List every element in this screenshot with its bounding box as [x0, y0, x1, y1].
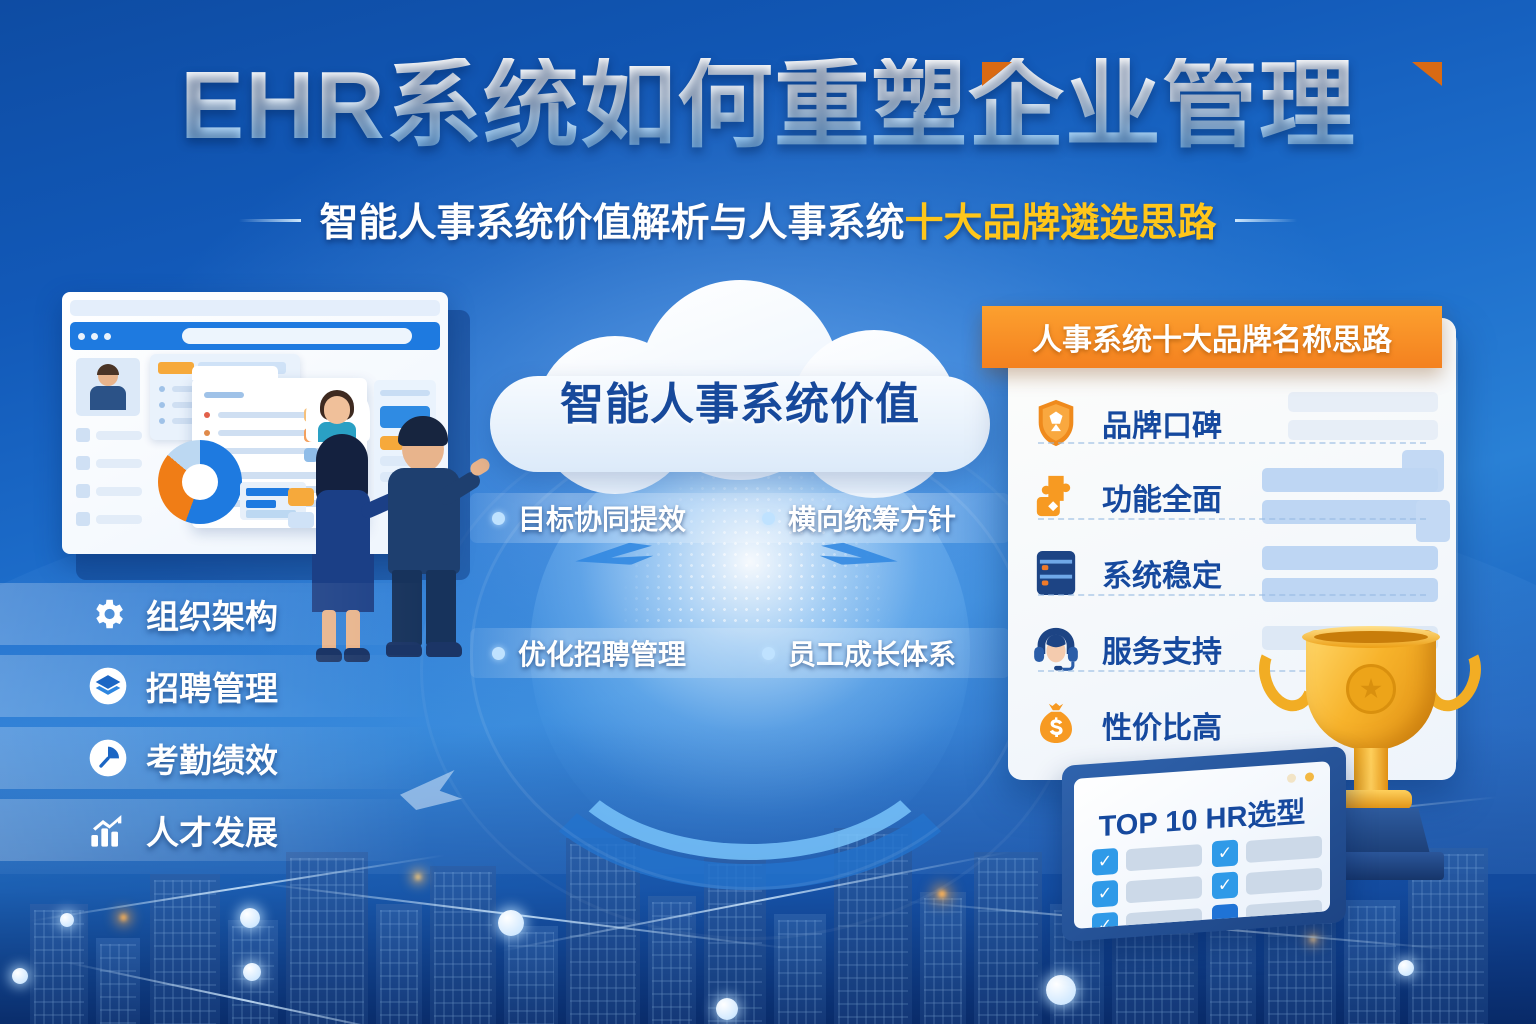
sidebar-item-label: 招聘管理 [146, 662, 278, 710]
center-pill-label: 目标协同提效 [518, 498, 686, 538]
sidebar-item-label: 组织架构 [146, 590, 278, 638]
clock-icon [88, 738, 128, 778]
subtitle-rule-left [239, 219, 301, 222]
criteria-label: 服务支持 [1102, 627, 1222, 671]
criteria-item-0[interactable]: 品牌口碑 [1030, 386, 1434, 460]
gear-icon [88, 594, 128, 634]
infographic-canvas: EHR系统如何重塑企业管理 智能人事系统价值解析与人事系统十大品牌遴选思路 [0, 0, 1536, 1024]
top10-tablet: TOP 10 HR选型 ✓ ✓ ✓ ✓ ✓ [1062, 756, 1346, 932]
subtitle-row: 智能人事系统价值解析与人事系统十大品牌遴选思路 [0, 192, 1536, 248]
checkbox-1[interactable]: ✓ [1212, 839, 1238, 867]
growth-chart-icon [88, 810, 128, 850]
center-pill-1[interactable]: 横向统筹方针 [740, 498, 1010, 538]
bullet-dot-icon [762, 647, 775, 660]
criteria-label: 功能全面 [1102, 475, 1222, 519]
row-divider [1038, 442, 1426, 444]
ribbon-tail-left [982, 62, 1012, 86]
criteria-label: 系统稳定 [1102, 551, 1222, 595]
sidebar-item-3[interactable]: 人才发展 [0, 799, 430, 861]
sidebar-item-2[interactable]: 考勤绩效 [0, 727, 430, 789]
sidebar-item-label: 考勤绩效 [146, 734, 278, 782]
pill-row-bottom: 优化招聘管理 员工成长体系 [470, 628, 1010, 678]
row-divider [1038, 518, 1426, 520]
criteria-label: 性价比高 [1102, 703, 1222, 747]
checkbox-2[interactable]: ✓ [1092, 880, 1118, 908]
page-title: EHR系统如何重塑企业管理 [0, 58, 1536, 154]
cloud-label: 智能人事系统价值 [480, 368, 1000, 432]
bullet-dot-icon [492, 512, 505, 525]
ribbon-banner: 人事系统十大品牌名称思路 [982, 306, 1442, 368]
sidebar-item-1[interactable]: 招聘管理 [0, 655, 430, 717]
center-pill-label: 员工成长体系 [788, 633, 956, 673]
criteria-label: 品牌口碑 [1102, 401, 1222, 445]
row-divider [1038, 594, 1426, 596]
checkbox-0[interactable]: ✓ [1092, 848, 1118, 876]
page-subtitle: 智能人事系统价值解析与人事系统十大品牌遴选思路 [319, 192, 1216, 248]
cloud-badge: 智能人事系统价值 [480, 280, 1000, 480]
center-pill-label: 横向统筹方针 [788, 498, 956, 538]
pill-row-top: 目标协同提效 横向统筹方针 [470, 493, 1010, 543]
center-pill-3[interactable]: 员工成长体系 [740, 633, 1010, 673]
center-pill-label: 优化招聘管理 [518, 633, 686, 673]
criteria-item-1[interactable]: 功能全面 [1030, 460, 1434, 534]
money-bag-icon [1030, 699, 1082, 751]
criteria-item-2[interactable]: 系统稳定 [1030, 536, 1434, 610]
subtitle-prefix: 智能人事系统价值解析与人事系统 [319, 202, 904, 245]
subtitle-rule-right [1235, 219, 1297, 222]
subtitle-highlight: 十大品牌遴选思路 [905, 202, 1217, 245]
sidebar-item-0[interactable]: 组织架构 [0, 583, 430, 645]
layers-icon [88, 666, 128, 706]
center-pill-0[interactable]: 目标协同提效 [470, 498, 740, 538]
center-pill-2[interactable]: 优化招聘管理 [470, 633, 740, 673]
puzzle-icon [1030, 471, 1082, 523]
bullet-dot-icon [762, 512, 775, 525]
checkbox-3[interactable]: ✓ [1212, 871, 1238, 899]
headset-icon [1030, 623, 1082, 675]
ribbon-label: 人事系统十大品牌名称思路 [1032, 315, 1392, 359]
ribbon-tail-right [1412, 62, 1442, 86]
sidebar-item-label: 人才发展 [146, 806, 278, 854]
server-icon [1030, 547, 1082, 599]
bullet-dot-icon [492, 647, 505, 660]
